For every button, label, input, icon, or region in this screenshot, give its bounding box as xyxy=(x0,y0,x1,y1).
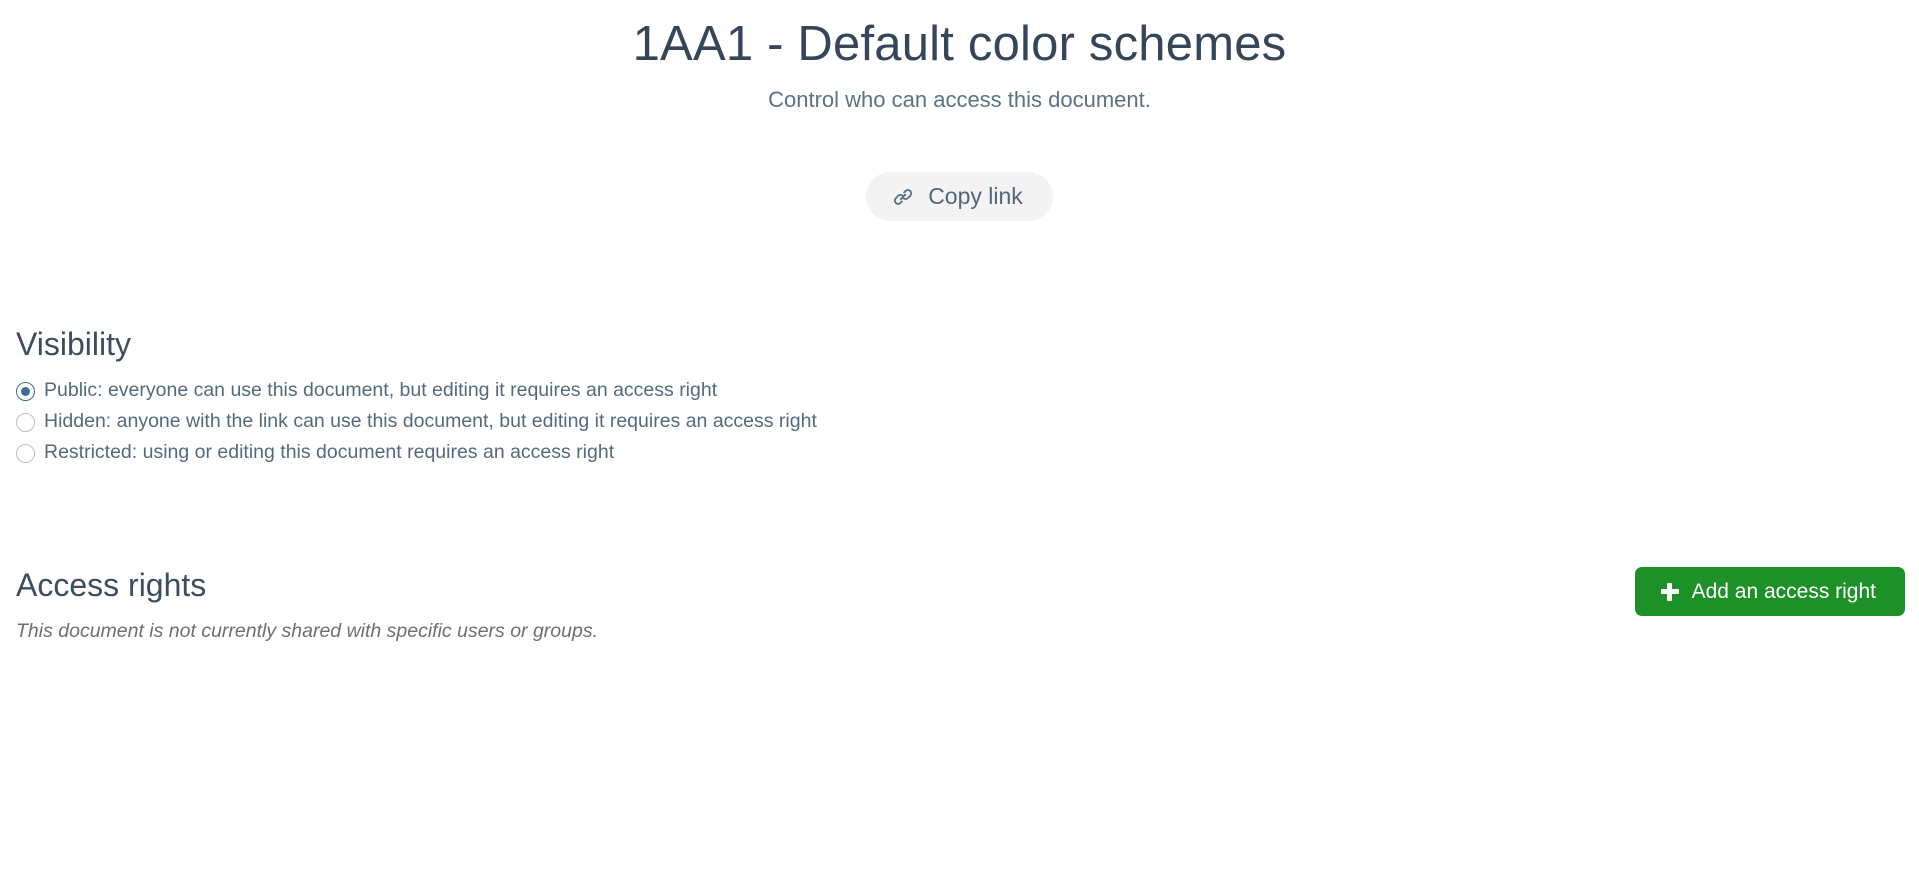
visibility-option-label: Restricted: using or editing this docume… xyxy=(44,442,614,463)
access-rights-header: Access rights xyxy=(16,567,1903,604)
plus-icon xyxy=(1661,583,1679,601)
visibility-heading: Visibility xyxy=(16,326,1903,363)
add-access-right-label: Add an access right xyxy=(1692,581,1876,602)
radio-icon-restricted[interactable] xyxy=(16,444,35,463)
visibility-option-restricted[interactable]: Restricted: using or editing this docume… xyxy=(16,438,1903,468)
visibility-option-label: Hidden: anyone with the link can use thi… xyxy=(44,411,817,432)
page-header: 1AA1 - Default color schemes Control who… xyxy=(0,0,1919,113)
visibility-section: Visibility Public: everyone can use this… xyxy=(0,326,1919,468)
add-access-right-button[interactable]: Add an access right xyxy=(1635,567,1905,616)
access-rights-empty-message: This document is not currently shared wi… xyxy=(16,621,1903,642)
copy-link-row: Copy link xyxy=(0,172,1919,221)
radio-icon-public[interactable] xyxy=(16,382,35,401)
visibility-radio-group: Public: everyone can use this document, … xyxy=(16,376,1903,468)
link-icon xyxy=(892,186,914,208)
radio-icon-hidden[interactable] xyxy=(16,413,35,432)
page-title: 1AA1 - Default color schemes xyxy=(0,18,1919,71)
visibility-option-public[interactable]: Public: everyone can use this document, … xyxy=(16,376,1903,406)
access-rights-heading: Access rights xyxy=(16,567,206,604)
copy-link-button[interactable]: Copy link xyxy=(866,172,1053,221)
page-subtitle: Control who can access this document. xyxy=(0,87,1919,113)
access-rights-section: Access rights This document is not curre… xyxy=(0,567,1919,657)
visibility-option-hidden[interactable]: Hidden: anyone with the link can use thi… xyxy=(16,407,1903,437)
copy-link-label: Copy link xyxy=(928,185,1023,208)
visibility-option-label: Public: everyone can use this document, … xyxy=(44,380,717,401)
